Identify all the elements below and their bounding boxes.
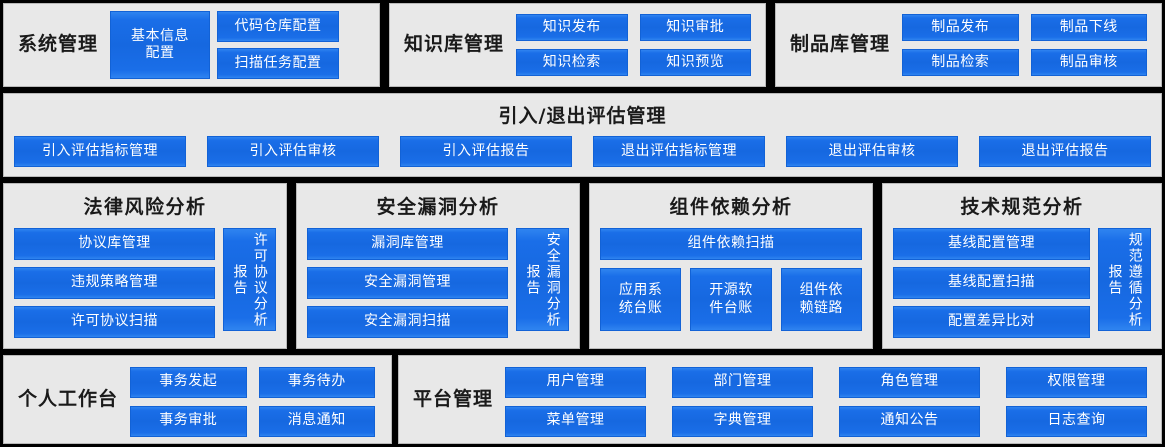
button-knowledge-preview[interactable]: 知识预览 [640, 49, 752, 76]
button-intro-eval-report[interactable]: 引入评估报告 [400, 136, 572, 167]
button-scan-task-config[interactable]: 扫描任务配置 [217, 48, 339, 79]
panel-legal-risk-analysis: 法律风险分析 协议库管理 违规策略管理 许可协议扫描 许可协议分析报告 [3, 183, 287, 349]
panel-title-component-dependency: 组件依赖分析 [590, 184, 872, 219]
button-log-query[interactable]: 日志查询 [1006, 406, 1147, 437]
security-vulnerability-button-group: 漏洞库管理 安全漏洞管理 安全漏洞扫描 安全漏洞分析报告 [297, 219, 579, 348]
security-vulnerability-main-buttons: 漏洞库管理 安全漏洞管理 安全漏洞扫描 [307, 228, 508, 338]
system-management-button-group: 基本信息 配置 代码仓库配置 扫描任务配置 [110, 3, 339, 87]
panel-title-evaluation-management: 引入/退出评估管理 [4, 94, 1161, 128]
button-open-source-software-ledger[interactable]: 开源软 件台账 [690, 268, 771, 331]
legal-risk-button-group: 协议库管理 违规策略管理 许可协议扫描 许可协议分析报告 [4, 219, 286, 348]
button-department-management[interactable]: 部门管理 [672, 367, 813, 398]
panel-component-dependency-analysis: 组件依赖分析 组件依赖扫描 应用系 统台账 开源软 件台账 组件依 赖链路 [589, 183, 873, 349]
button-intro-eval-metrics[interactable]: 引入评估指标管理 [14, 136, 186, 167]
panel-title-platform-management: 平台管理 [413, 389, 493, 411]
panel-title-knowledge-base: 知识库管理 [404, 34, 504, 56]
button-permission-management[interactable]: 权限管理 [1006, 367, 1147, 398]
architecture-diagram-canvas: 系统管理 基本信息 配置 代码仓库配置 扫描任务配置 知识库管理 知识发布 知识… [0, 0, 1165, 447]
panel-knowledge-base-management: 知识库管理 知识发布 知识审批 知识检索 知识预览 [389, 3, 766, 87]
panel-technical-specification-analysis: 技术规范分析 基线配置管理 基线配置扫描 配置差异比对 规范遵循分析报告 [882, 183, 1162, 349]
button-role-management[interactable]: 角色管理 [839, 367, 980, 398]
button-task-initiate[interactable]: 事务发起 [130, 367, 246, 398]
panel-artifact-repo-management: 制品库管理 制品发布 制品下线 制品检索 制品审核 [775, 3, 1162, 87]
panel-title-security-vulnerability: 安全漏洞分析 [297, 184, 579, 219]
button-baseline-config-scan[interactable]: 基线配置扫描 [893, 267, 1090, 299]
personal-workbench-button-group: 事务发起 事务待办 事务审批 消息通知 [130, 367, 375, 433]
knowledge-base-button-group: 知识发布 知识审批 知识检索 知识预览 [516, 14, 751, 76]
panel-platform-management: 平台管理 用户管理 部门管理 角色管理 权限管理 菜单管理 字典管理 通知公告 … [398, 355, 1162, 444]
evaluation-button-group: 引入评估指标管理 引入评估审核 引入评估报告 退出评估指标管理 退出评估审核 退… [4, 128, 1161, 167]
button-exit-eval-report[interactable]: 退出评估报告 [979, 136, 1151, 167]
button-security-vuln-analysis-report[interactable]: 安全漏洞分析报告 [516, 228, 569, 331]
button-user-management[interactable]: 用户管理 [505, 367, 646, 398]
button-license-analysis-report[interactable]: 许可协议分析报告 [223, 228, 276, 331]
button-exit-eval-metrics[interactable]: 退出评估指标管理 [593, 136, 765, 167]
button-license-library-management[interactable]: 协议库管理 [14, 228, 215, 260]
button-basic-info-config[interactable]: 基本信息 配置 [110, 11, 210, 79]
artifact-repo-button-group: 制品发布 制品下线 制品检索 制品审核 [902, 14, 1147, 76]
panel-title-personal-workbench: 个人工作台 [18, 389, 118, 411]
button-component-dependency-chain[interactable]: 组件依 赖链路 [781, 268, 862, 331]
button-license-agreement-scan[interactable]: 许可协议扫描 [14, 306, 215, 338]
button-knowledge-search[interactable]: 知识检索 [516, 49, 627, 76]
panel-title-technical-specification: 技术规范分析 [883, 184, 1161, 219]
button-vuln-library-management[interactable]: 漏洞库管理 [307, 228, 508, 260]
button-knowledge-publish[interactable]: 知识发布 [516, 14, 627, 41]
technical-specification-button-group: 基线配置管理 基线配置扫描 配置差异比对 规范遵循分析报告 [883, 219, 1161, 348]
button-config-difference-comparison[interactable]: 配置差异比对 [893, 306, 1090, 338]
panel-title-system-management: 系统管理 [18, 34, 98, 56]
button-baseline-config-management[interactable]: 基线配置管理 [893, 228, 1090, 260]
button-component-dependency-scan[interactable]: 组件依赖扫描 [600, 228, 862, 260]
panel-title-artifact-repo: 制品库管理 [790, 34, 890, 56]
button-code-repo-config[interactable]: 代码仓库配置 [217, 11, 339, 42]
button-notice-announcement[interactable]: 通知公告 [839, 406, 980, 437]
button-security-vuln-management[interactable]: 安全漏洞管理 [307, 267, 508, 299]
button-artifact-publish[interactable]: 制品发布 [902, 14, 1018, 41]
button-task-todo[interactable]: 事务待办 [259, 367, 376, 398]
button-knowledge-approve[interactable]: 知识审批 [640, 14, 752, 41]
button-application-system-ledger[interactable]: 应用系 统台账 [600, 268, 681, 331]
legal-risk-main-buttons: 协议库管理 违规策略管理 许可协议扫描 [14, 228, 215, 338]
button-intro-eval-review[interactable]: 引入评估审核 [207, 136, 379, 167]
button-menu-management[interactable]: 菜单管理 [505, 406, 646, 437]
button-task-approve[interactable]: 事务审批 [130, 406, 246, 437]
button-spec-compliance-analysis-report[interactable]: 规范遵循分析报告 [1098, 228, 1151, 331]
button-exit-eval-review[interactable]: 退出评估审核 [786, 136, 958, 167]
button-dictionary-management[interactable]: 字典管理 [672, 406, 813, 437]
platform-management-button-group: 用户管理 部门管理 角色管理 权限管理 菜单管理 字典管理 通知公告 日志查询 [505, 367, 1147, 433]
component-dependency-button-group: 组件依赖扫描 应用系 统台账 开源软 件台账 组件依 赖链路 [590, 219, 872, 341]
button-message-notification[interactable]: 消息通知 [259, 406, 376, 437]
panel-personal-workbench: 个人工作台 事务发起 事务待办 事务审批 消息通知 [3, 355, 392, 444]
panel-security-vulnerability-analysis: 安全漏洞分析 漏洞库管理 安全漏洞管理 安全漏洞扫描 安全漏洞分析报告 [296, 183, 580, 349]
button-artifact-review[interactable]: 制品审核 [1031, 49, 1148, 76]
button-artifact-search[interactable]: 制品检索 [902, 49, 1018, 76]
button-violation-policy-management[interactable]: 违规策略管理 [14, 267, 215, 299]
button-artifact-offline[interactable]: 制品下线 [1031, 14, 1148, 41]
panel-evaluation-management: 引入/退出评估管理 引入评估指标管理 引入评估审核 引入评估报告 退出评估指标管… [3, 93, 1162, 177]
component-dependency-sub-buttons: 应用系 统台账 开源软 件台账 组件依 赖链路 [600, 268, 862, 331]
panel-title-legal-risk: 法律风险分析 [4, 184, 286, 219]
panel-system-management: 系统管理 基本信息 配置 代码仓库配置 扫描任务配置 [3, 3, 380, 87]
technical-specification-main-buttons: 基线配置管理 基线配置扫描 配置差异比对 [893, 228, 1090, 338]
button-security-vuln-scan[interactable]: 安全漏洞扫描 [307, 306, 508, 338]
